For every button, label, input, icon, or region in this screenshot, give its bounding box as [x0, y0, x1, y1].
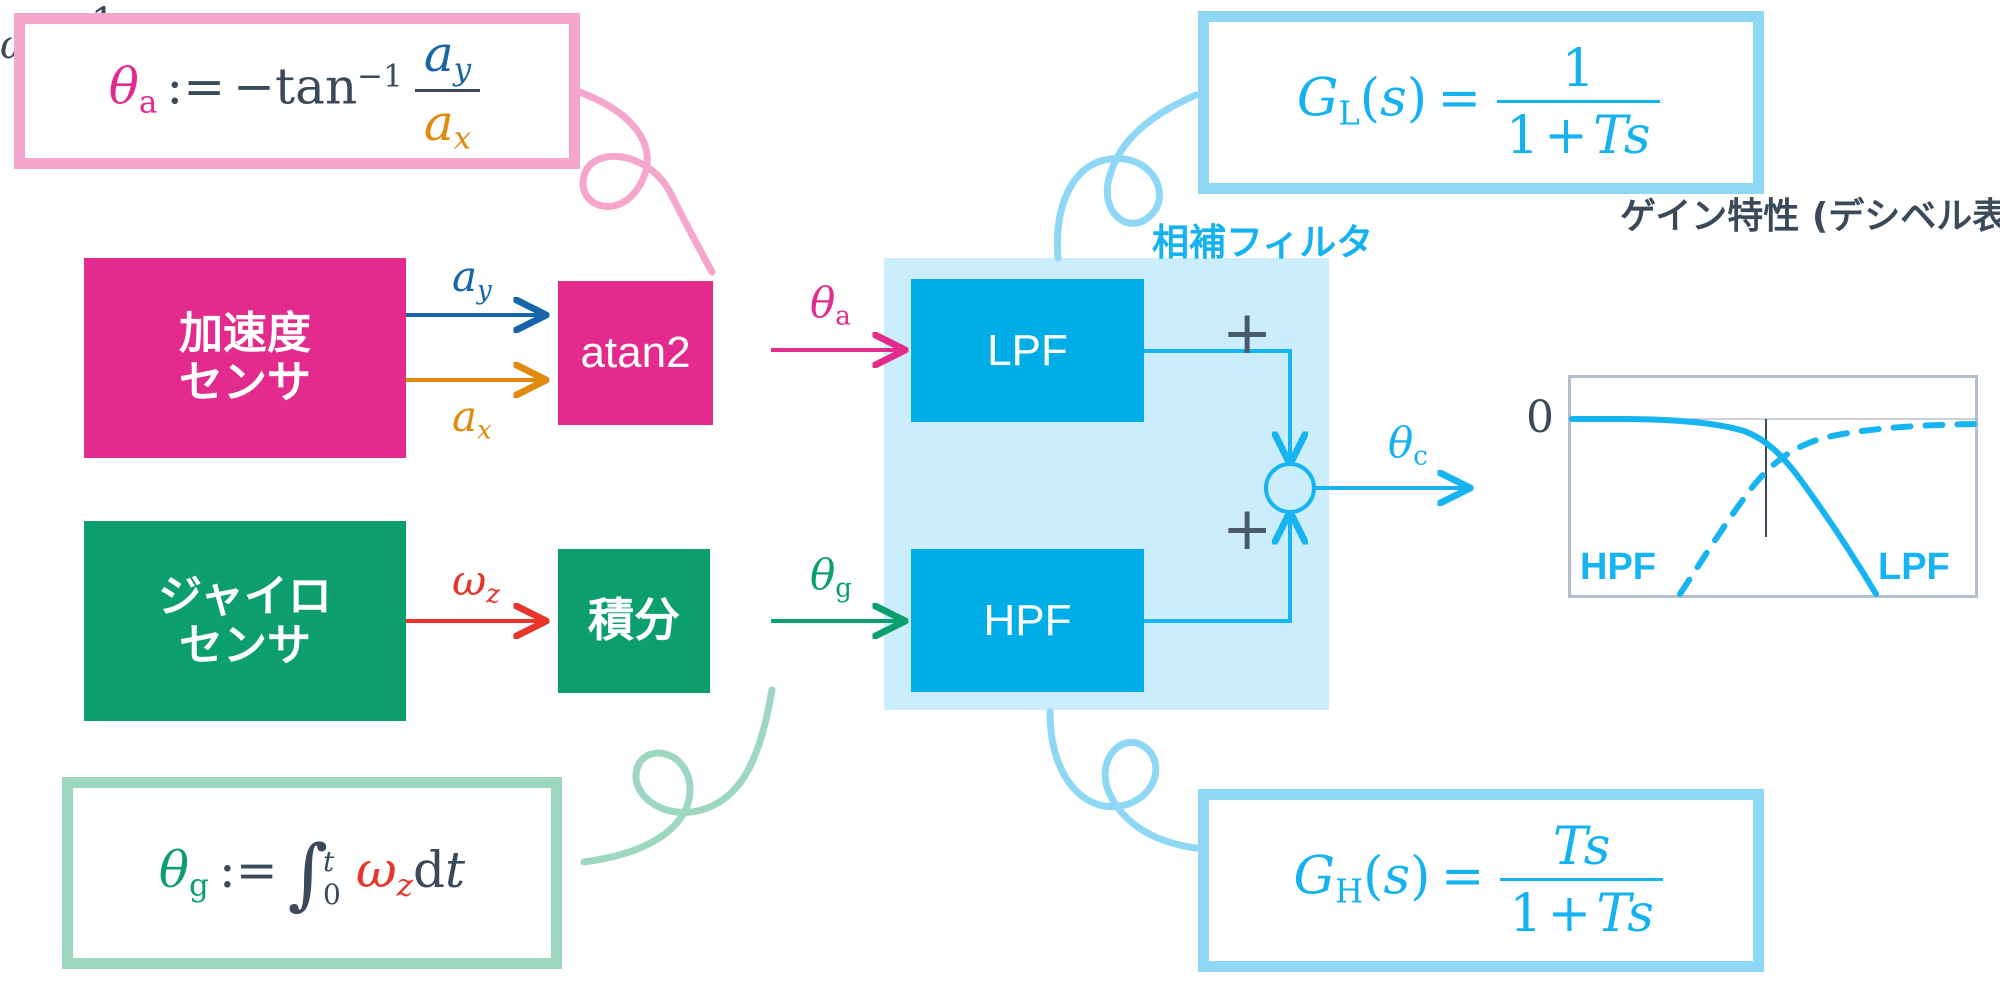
- integral-lower: 0: [323, 878, 341, 911]
- gyro-sensor-line2: センサ: [158, 621, 332, 670]
- leader-theta-g: [584, 690, 772, 862]
- sum-plus-top: +: [1222, 298, 1272, 368]
- formula-g-hpf: GH(s)=Ts1+Ts: [1293, 817, 1668, 943]
- minus-op: −: [233, 58, 275, 116]
- chart-title: ゲイン特性 (デシベル表示): [1620, 196, 1940, 238]
- signal-label-theta-a: θa: [810, 278, 851, 331]
- sum-plus-bottom: +: [1222, 494, 1272, 564]
- integrator-label: 積分: [588, 595, 680, 647]
- signal-label-omega-z: ωz: [452, 556, 500, 609]
- accel-sensor-line1: 加速度: [179, 309, 311, 358]
- integral-sign: ∫: [288, 843, 328, 905]
- chart-label-lpf: LPF: [1878, 546, 1950, 589]
- signal-label-theta-g: θg: [810, 550, 852, 603]
- formula-g-lpf: GL(s)=11+Ts: [1297, 39, 1665, 165]
- g-lpf-fraction: 11+Ts: [1497, 39, 1660, 165]
- formula-theta-a: θa:=−tan−1ayax: [109, 25, 485, 156]
- integral-upper: t: [323, 845, 341, 878]
- leader-g-lpf: [1057, 95, 1196, 258]
- equals-op-2: =: [1441, 847, 1485, 907]
- block-lpf[interactable]: LPF: [911, 279, 1144, 422]
- accel-sensor-line2: センサ: [179, 358, 311, 407]
- leader-theta-a: [562, 86, 712, 272]
- gyro-sensor-line1: ジャイロ: [158, 572, 332, 621]
- card-theta-a-definition: θa:=−tan−1ayax: [14, 13, 580, 169]
- atan2-label: atan2: [580, 328, 690, 377]
- leader-g-hpf: [1050, 712, 1196, 848]
- ay-over-ax-fraction: ayax: [415, 25, 480, 156]
- card-theta-g-definition: θg:=∫t0ωzdt: [62, 777, 562, 969]
- g-hpf-fraction: Ts1+Ts: [1500, 817, 1663, 943]
- block-accel-sensor[interactable]: 加速度 センサ: [84, 258, 406, 458]
- chart-y-tick-0: 0: [1526, 392, 1554, 443]
- arctan-fn: tan: [275, 58, 357, 116]
- assign-op-2: :=: [219, 841, 278, 899]
- g-lpf-lhs: G: [1297, 69, 1339, 129]
- block-hpf[interactable]: HPF: [911, 549, 1144, 692]
- equals-op: =: [1437, 69, 1481, 129]
- g-hpf-lhs: G: [1293, 847, 1335, 907]
- chart-label-hpf: HPF: [1580, 546, 1656, 589]
- chart-title-line2: (デシベル表示): [1812, 196, 2000, 237]
- signal-label-ax: ax: [452, 392, 492, 445]
- formula-theta-g: θg:=∫t0ωzdt: [159, 841, 465, 905]
- theta-g-lhs: θ: [159, 841, 189, 899]
- signal-label-ay: ay: [452, 252, 492, 305]
- lpf-label: LPF: [987, 326, 1068, 375]
- chart-title-line1: ゲイン特性: [1620, 196, 1799, 237]
- card-g-hpf: GH(s)=Ts1+Ts: [1198, 789, 1764, 972]
- signal-label-theta-c: θc: [1388, 418, 1428, 471]
- block-integrator[interactable]: 積分: [558, 549, 710, 693]
- assign-op: :=: [166, 58, 225, 116]
- summing-junction: [1266, 464, 1314, 512]
- block-atan2[interactable]: atan2: [558, 281, 713, 425]
- block-gyro-sensor[interactable]: ジャイロ センサ: [84, 521, 406, 721]
- hpf-label: HPF: [984, 596, 1072, 645]
- theta-a-lhs: θ: [109, 58, 139, 116]
- card-g-lpf: GL(s)=11+Ts: [1198, 11, 1764, 194]
